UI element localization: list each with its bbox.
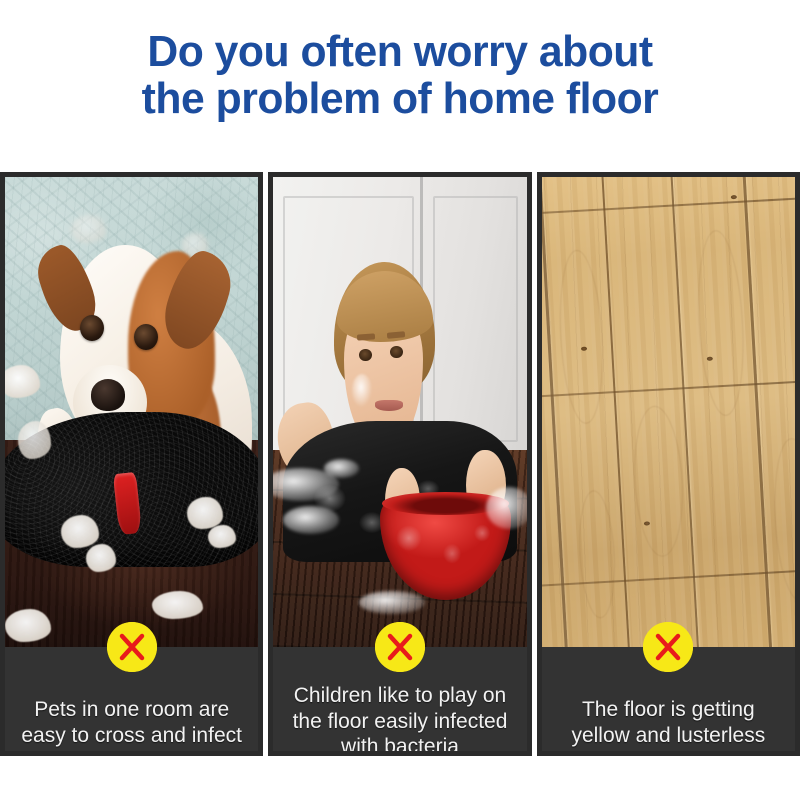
wood-grain xyxy=(576,489,618,619)
caption-line: with bacteria xyxy=(277,734,522,756)
page-title: Do you often worry about the problem of … xyxy=(12,28,788,122)
caption-line: yellow and lusterless xyxy=(546,723,791,749)
pets-caption-text: Pets in one room are easy to cross and i… xyxy=(9,697,254,748)
plank-seam xyxy=(736,177,778,647)
hardwood-planks xyxy=(542,177,795,647)
fur-tuft xyxy=(152,591,203,619)
flour-spill xyxy=(486,487,527,529)
plank-seam xyxy=(542,177,575,647)
flour-spill xyxy=(359,591,425,615)
caption-line: Pets in one room are xyxy=(9,697,254,723)
caption-line: easy to cross and infect xyxy=(9,723,254,749)
wood-grain xyxy=(631,405,687,559)
pets-photo xyxy=(5,177,258,647)
floor-caption-text: The floor is getting yellow and lusterle… xyxy=(546,697,791,748)
fur-tuft xyxy=(5,609,51,642)
dog-eye-left xyxy=(80,315,104,341)
wood-grain xyxy=(771,437,795,602)
children-photo xyxy=(273,177,526,647)
wood-knot xyxy=(707,357,713,361)
fur-tuft xyxy=(208,525,236,549)
page-title-line-2: the problem of home floor xyxy=(12,75,788,122)
dog-eye-right xyxy=(134,324,158,350)
wood-knot xyxy=(644,521,650,525)
plank-seam xyxy=(595,177,637,647)
caption-line: Children like to play on xyxy=(277,683,522,709)
dog-nose xyxy=(91,379,126,411)
boy-eye-left xyxy=(359,349,372,361)
wood-knot xyxy=(581,347,587,351)
plank-seam xyxy=(664,177,706,647)
wood-grain xyxy=(693,229,748,417)
flour-spill xyxy=(324,459,359,478)
boy-eye-right xyxy=(390,346,403,358)
caption-line: The floor is getting xyxy=(546,697,791,723)
wood-grain xyxy=(556,249,607,425)
boy-mouth xyxy=(375,400,403,410)
panel-floor[interactable]: The floor is getting yellow and lusterle… xyxy=(537,172,800,756)
fur-tuft xyxy=(61,515,99,548)
children-caption-text: Children like to play on the floor easil… xyxy=(277,683,522,756)
wood-knot xyxy=(731,195,737,199)
fur-tuft xyxy=(86,544,116,572)
x-mark-icon xyxy=(107,622,157,672)
problem-panels-row: Pets in one room are easy to cross and i… xyxy=(0,172,800,756)
panel-pets[interactable]: Pets in one room are easy to cross and i… xyxy=(0,172,263,756)
x-mark-icon xyxy=(375,622,425,672)
page-title-line-1: Do you often worry about xyxy=(12,28,788,75)
floor-photo xyxy=(542,177,795,647)
plank-end-joint xyxy=(542,377,795,402)
plank-end-joint xyxy=(542,566,795,591)
caption-line: the floor easily infected xyxy=(277,709,522,735)
panel-children[interactable]: Children like to play on the floor easil… xyxy=(268,172,531,756)
plank-end-joint xyxy=(542,193,795,218)
cabinet-door-panel xyxy=(433,196,518,442)
fur-tuft xyxy=(18,421,51,459)
x-mark-icon xyxy=(643,622,693,672)
